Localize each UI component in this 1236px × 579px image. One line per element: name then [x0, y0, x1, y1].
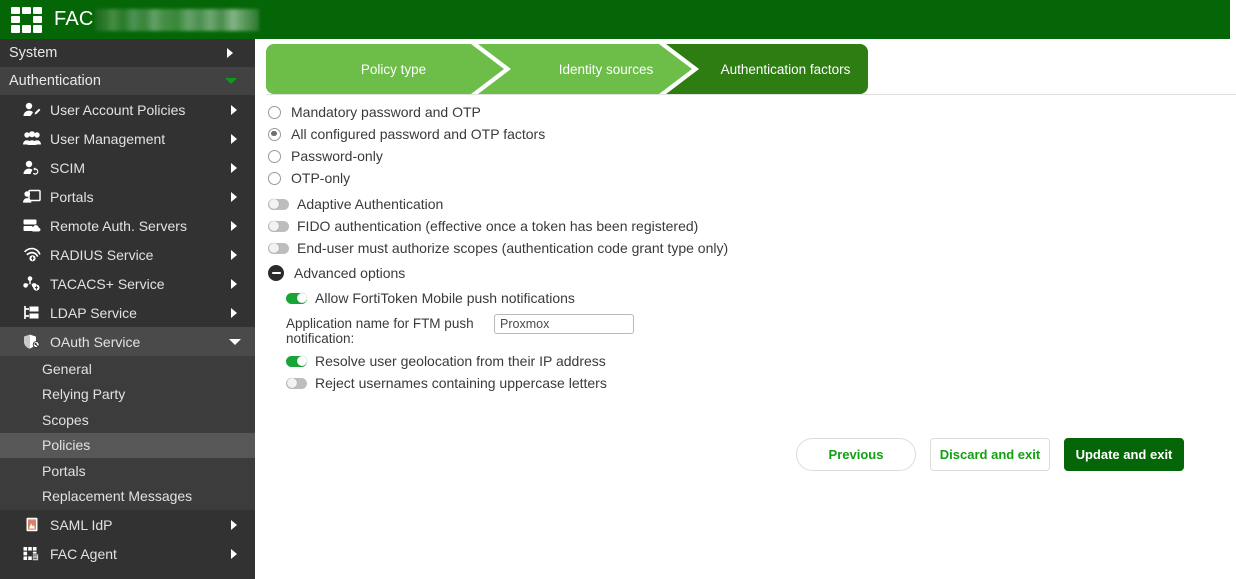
previous-button[interactable]: Previous	[796, 438, 916, 471]
saml-document-icon	[21, 516, 43, 534]
wizard-steps: Policy type Identity sources Authenticat…	[266, 44, 868, 94]
user-edit-icon	[21, 101, 43, 119]
toggle-ftm-push-notifications[interactable]	[286, 293, 307, 304]
factor-radio-group: Mandatory password and OTP All configure…	[268, 101, 1218, 189]
sidebar-item-scim[interactable]: SCIM	[0, 153, 255, 182]
chevron-right-icon	[231, 163, 237, 173]
ftm-app-name-input[interactable]	[494, 314, 634, 334]
toggle-label: Reject usernames containing uppercase le…	[315, 375, 607, 391]
user-sync-icon	[21, 159, 43, 177]
toggle-adaptive-authentication[interactable]	[268, 199, 289, 210]
toggle-label: Allow FortiToken Mobile push notificatio…	[315, 290, 575, 306]
product-label: FAC	[54, 8, 94, 31]
toggle-row-resolve-geolocation[interactable]: Resolve user geolocation from their IP a…	[286, 350, 1218, 372]
feature-toggle-group: Adaptive Authentication FIDO authenticat…	[268, 193, 1218, 259]
radio-label: All configured password and OTP factors	[291, 126, 545, 142]
sidebar-item-label: TACACS+ Service	[50, 276, 165, 292]
sidebar-subitem-label: Relying Party	[42, 386, 125, 402]
redacted-hostname	[95, 9, 259, 31]
radio-row-all-configured-factors[interactable]: All configured password and OTP factors	[268, 123, 1218, 145]
radio-mandatory-password-otp[interactable]	[268, 106, 281, 119]
sidebar-item-label: SAML IdP	[50, 517, 113, 533]
wizard-step-identity-sources[interactable]: Identity sources	[506, 44, 706, 94]
wizard-divider	[266, 94, 1236, 95]
chevron-right-icon	[227, 48, 233, 58]
users-group-icon	[21, 130, 43, 148]
sidebar-item-ldap-service[interactable]: LDAP Service	[0, 298, 255, 327]
fac-agent-icon	[21, 545, 43, 563]
radio-label: Password-only	[291, 148, 383, 164]
minus-circle-icon[interactable]	[268, 265, 284, 281]
chevron-right-icon	[231, 308, 237, 318]
update-and-exit-button[interactable]: Update and exit	[1064, 438, 1184, 471]
chevron-down-icon	[229, 339, 241, 345]
toggle-row-ftm-push-notifications[interactable]: Allow FortiToken Mobile push notificatio…	[286, 287, 1218, 309]
advanced-options-header[interactable]: Advanced options	[268, 261, 1218, 285]
advanced-options-body: Allow FortiToken Mobile push notificatio…	[286, 287, 1218, 394]
wizard-step-policy-type[interactable]: Policy type	[266, 44, 521, 94]
toggle-row-fido-authentication[interactable]: FIDO authentication (effective once a to…	[268, 215, 1218, 237]
chevron-right-icon	[231, 250, 237, 260]
radio-row-password-only[interactable]: Password-only	[268, 145, 1218, 167]
sidebar-subitem-portals[interactable]: Portals	[0, 458, 255, 484]
toggle-label: FIDO authentication (effective once a to…	[297, 218, 698, 234]
sidebar: System Authentication User Account Polic…	[0, 39, 255, 579]
radio-otp-only[interactable]	[268, 172, 281, 185]
toggle-label: Adaptive Authentication	[297, 196, 443, 212]
server-cloud-icon	[21, 217, 43, 235]
discard-and-exit-button[interactable]: Discard and exit	[930, 438, 1050, 471]
sidebar-subitem-relying-party[interactable]: Relying Party	[0, 382, 255, 408]
radius-wifi-icon	[21, 246, 43, 264]
radio-label: Mandatory password and OTP	[291, 104, 481, 120]
sidebar-item-tacacs-service[interactable]: TACACS+ Service	[0, 269, 255, 298]
ftm-app-name-row: Application name for FTM push notificati…	[286, 314, 1218, 346]
authentication-factors-form: Mandatory password and OTP All configure…	[268, 101, 1218, 394]
ldap-tree-icon	[21, 304, 43, 322]
sidebar-item-label: OAuth Service	[50, 334, 140, 350]
sidebar-subitem-scopes[interactable]: Scopes	[0, 407, 255, 433]
main-content: Policy type Identity sources Authenticat…	[255, 39, 1236, 579]
wizard-step-authentication-factors[interactable]: Authentication factors	[703, 44, 868, 94]
sidebar-item-label: FAC Agent	[50, 546, 117, 562]
sidebar-subitem-label: Scopes	[42, 412, 89, 428]
toggle-row-adaptive-authentication[interactable]: Adaptive Authentication	[268, 193, 1218, 215]
oauth-submenu: General Relying Party Scopes Policies Po…	[0, 356, 255, 510]
ftm-app-name-label: Application name for FTM push notificati…	[286, 314, 494, 346]
sidebar-item-label: User Account Policies	[50, 102, 185, 118]
sidebar-item-label: System	[9, 45, 57, 61]
sidebar-item-user-management[interactable]: User Management	[0, 124, 255, 153]
toggle-authorize-scopes[interactable]	[268, 243, 289, 254]
toggle-row-authorize-scopes[interactable]: End-user must authorize scopes (authenti…	[268, 237, 1218, 259]
sidebar-item-label: Remote Auth. Servers	[50, 218, 187, 234]
header-right-edge	[1230, 0, 1236, 39]
toggle-label: End-user must authorize scopes (authenti…	[297, 240, 728, 256]
sidebar-item-authentication[interactable]: Authentication	[0, 67, 255, 95]
sidebar-item-label: SCIM	[50, 160, 85, 176]
sidebar-item-saml-idp[interactable]: SAML IdP	[0, 510, 255, 539]
sidebar-subitem-replacement-messages[interactable]: Replacement Messages	[0, 484, 255, 510]
radio-row-otp-only[interactable]: OTP-only	[268, 167, 1218, 189]
chevron-right-icon	[231, 192, 237, 202]
oauth-shield-key-icon	[21, 333, 43, 351]
toggle-row-reject-uppercase-usernames[interactable]: Reject usernames containing uppercase le…	[286, 372, 1218, 394]
chevron-right-icon	[231, 520, 237, 530]
sidebar-item-label: RADIUS Service	[50, 247, 153, 263]
radio-all-configured-factors[interactable]	[268, 128, 281, 141]
radio-row-mandatory-password-otp[interactable]: Mandatory password and OTP	[268, 101, 1218, 123]
sidebar-subitem-label: Policies	[42, 437, 90, 453]
app-header: FAC	[0, 0, 1230, 39]
grid-logo-icon	[11, 7, 42, 33]
toggle-label: Resolve user geolocation from their IP a…	[315, 353, 606, 369]
sidebar-item-user-account-policies[interactable]: User Account Policies	[0, 95, 255, 124]
sidebar-item-system[interactable]: System	[0, 39, 255, 67]
sidebar-item-fac-agent[interactable]: FAC Agent	[0, 539, 255, 568]
sidebar-subitem-general[interactable]: General	[0, 356, 255, 382]
radio-password-only[interactable]	[268, 150, 281, 163]
chevron-right-icon	[231, 279, 237, 289]
chevron-down-icon	[225, 78, 237, 84]
radio-label: OTP-only	[291, 170, 350, 186]
chevron-right-icon	[231, 134, 237, 144]
chevron-right-icon	[231, 549, 237, 559]
sidebar-item-label: Portals	[50, 189, 94, 205]
sidebar-subitem-label: Replacement Messages	[42, 488, 192, 504]
sidebar-item-label: Authentication	[9, 73, 101, 89]
toggle-fido-authentication[interactable]	[268, 221, 289, 232]
toggle-resolve-geolocation[interactable]	[286, 356, 307, 367]
sidebar-subitem-label: General	[42, 361, 92, 377]
user-window-icon	[21, 188, 43, 206]
advanced-options-label: Advanced options	[294, 265, 405, 281]
toggle-reject-uppercase-usernames[interactable]	[286, 378, 307, 389]
chevron-right-icon	[231, 105, 237, 115]
sidebar-item-label: LDAP Service	[50, 305, 137, 321]
chevron-right-icon	[231, 221, 237, 231]
form-action-bar: Previous Discard and exit Update and exi…	[268, 438, 1184, 471]
sidebar-subitem-policies[interactable]: Policies	[0, 433, 255, 459]
tacacs-node-icon	[21, 275, 43, 293]
sidebar-item-label: User Management	[50, 131, 165, 147]
sidebar-item-radius-service[interactable]: RADIUS Service	[0, 240, 255, 269]
sidebar-item-portals[interactable]: Portals	[0, 182, 255, 211]
sidebar-item-remote-auth-servers[interactable]: Remote Auth. Servers	[0, 211, 255, 240]
sidebar-item-oauth-service[interactable]: OAuth Service	[0, 327, 255, 356]
sidebar-subitem-label: Portals	[42, 463, 86, 479]
